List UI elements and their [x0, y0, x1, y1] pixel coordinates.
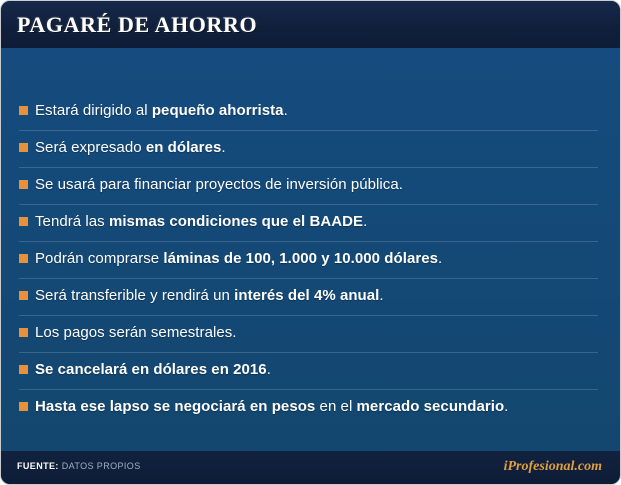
plain-text: Será transferible y rendirá un: [35, 287, 234, 304]
list-item: Será transferible y rendirá un interés d…: [19, 286, 598, 308]
square-bullet-icon: [19, 217, 28, 226]
list-spacer: [19, 353, 598, 360]
plain-text: .: [267, 361, 271, 378]
list-item: Estará dirigido al pequeño ahorrista.: [19, 101, 598, 123]
list-item: Podrán comprarse láminas de 100, 1.000 y…: [19, 249, 598, 271]
emphasis-text: mismas condiciones que el BAADE: [109, 213, 363, 230]
emphasis-text: en dólares: [146, 139, 222, 156]
footer-bar: FUENTE: DATOS PROPIOS iProfesional.com: [1, 451, 620, 484]
brand-logo: iProfesional.com: [504, 459, 602, 475]
emphasis-text: pequeño ahorrista: [152, 102, 284, 119]
square-bullet-icon: [19, 106, 28, 115]
plain-text: .: [379, 287, 383, 304]
list-item: Los pagos serán semestrales.: [19, 323, 598, 345]
list-item-text: Los pagos serán semestrales.: [35, 323, 237, 342]
plain-text: en el: [315, 398, 356, 415]
list-spacer: [19, 234, 598, 241]
plain-text: .: [438, 250, 442, 267]
list-item: Tendrá las mismas condiciones que el BAA…: [19, 212, 598, 234]
list-item: Se cancelará en dólares en 2016.: [19, 360, 598, 382]
plain-text: Estará dirigido al: [35, 102, 152, 119]
plain-text: Será expresado: [35, 139, 146, 156]
square-bullet-icon: [19, 143, 28, 152]
list-spacer: [19, 131, 598, 138]
square-bullet-icon: [19, 180, 28, 189]
plain-text: Tendrá las: [35, 213, 109, 230]
square-bullet-icon: [19, 365, 28, 374]
list-spacer: [19, 382, 598, 389]
list-item-text: Será expresado en dólares.: [35, 138, 226, 157]
list-item: Se usará para financiar proyectos de inv…: [19, 175, 598, 197]
plain-text: .: [221, 139, 225, 156]
infographic-card: PAGARÉ DE AHORRO Estará dirigido al pequ…: [0, 0, 621, 485]
list-item: Será expresado en dólares.: [19, 138, 598, 160]
emphasis-text: Se cancelará en dólares en 2016: [35, 361, 267, 378]
plain-text: .: [284, 102, 288, 119]
list-spacer: [19, 390, 598, 397]
list-spacer: [19, 160, 598, 167]
plain-text: Podrán comprarse: [35, 250, 163, 267]
list-spacer: [19, 197, 598, 204]
list-item-text: Tendrá las mismas condiciones que el BAA…: [35, 212, 367, 231]
list-spacer: [19, 168, 598, 175]
source-note: FUENTE: DATOS PROPIOS: [17, 461, 141, 471]
list-spacer: [19, 316, 598, 323]
plain-text: .: [504, 398, 508, 415]
bullet-list: Estará dirigido al pequeño ahorrista.Ser…: [19, 101, 598, 419]
list-spacer: [19, 271, 598, 278]
list-item-text: Se usará para financiar proyectos de inv…: [35, 175, 403, 194]
emphasis-text: interés del 4% anual: [234, 287, 379, 304]
list-spacer: [19, 345, 598, 352]
list-item-text: Estará dirigido al pequeño ahorrista.: [35, 101, 288, 120]
list-item-text: Se cancelará en dólares en 2016.: [35, 360, 271, 379]
list-item-text: Podrán comprarse láminas de 100, 1.000 y…: [35, 249, 442, 268]
emphasis-text: Hasta ese lapso se negociará en pesos: [35, 398, 315, 415]
header-bar: PAGARÉ DE AHORRO: [1, 1, 620, 48]
list-item: Hasta ese lapso se negociará en pesos en…: [19, 397, 598, 419]
list-item-text: Hasta ese lapso se negociará en pesos en…: [35, 397, 508, 416]
square-bullet-icon: [19, 291, 28, 300]
content-area: Estará dirigido al pequeño ahorrista.Ser…: [1, 48, 620, 451]
list-item-text: Será transferible y rendirá un interés d…: [35, 286, 384, 305]
emphasis-text: mercado secundario: [357, 398, 505, 415]
square-bullet-icon: [19, 254, 28, 263]
list-spacer: [19, 123, 598, 130]
list-spacer: [19, 308, 598, 315]
plain-text: .: [363, 213, 367, 230]
page-title: PAGARÉ DE AHORRO: [17, 12, 257, 38]
source-value: DATOS PROPIOS: [62, 461, 141, 471]
emphasis-text: láminas de 100, 1.000 y 10.000 dólares: [163, 250, 438, 267]
source-label: FUENTE:: [17, 461, 59, 471]
list-spacer: [19, 205, 598, 212]
plain-text: Se usará para financiar proyectos de inv…: [35, 176, 403, 193]
list-spacer: [19, 279, 598, 286]
square-bullet-icon: [19, 402, 28, 411]
list-spacer: [19, 242, 598, 249]
square-bullet-icon: [19, 328, 28, 337]
plain-text: Los pagos serán semestrales.: [35, 324, 237, 341]
